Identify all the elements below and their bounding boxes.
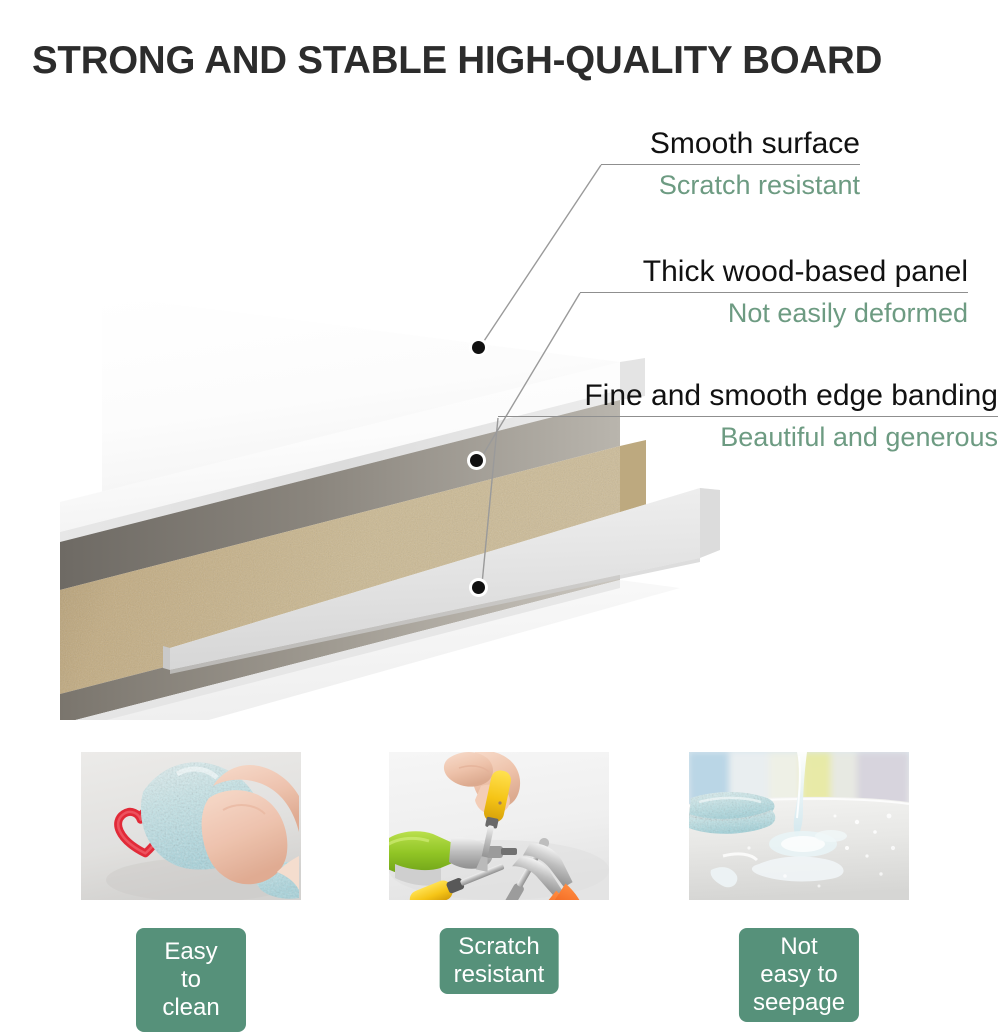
- badge-wrap: Easy to clean: [81, 928, 301, 986]
- callout-title: Fine and smooth edge banding: [498, 378, 998, 417]
- page-title: STRONG AND STABLE HIGH-QUALITY BOARD: [32, 38, 958, 84]
- callout-smooth-surface: Smooth surface Scratch resistant: [601, 126, 860, 202]
- callout-subtitle: Beautiful and generous: [498, 417, 998, 454]
- callout-title: Thick wood-based panel: [580, 254, 968, 293]
- photo-water-pouring-on-surface-beside-blue-towel: [689, 752, 909, 900]
- edge-banding-strip-left-end: [163, 646, 170, 670]
- feature-not-easy-to-seepage: Not easy to seepage: [689, 752, 909, 986]
- photo-hand-scratching-surface-with-screwdriver-and-tools: [389, 752, 609, 900]
- callout-subtitle: Scratch resistant: [601, 165, 860, 202]
- callout-subtitle: Not easily deformed: [580, 293, 968, 330]
- marker-dot-thick-wood-based-panel: [470, 454, 483, 467]
- badge-wrap: Scratch resistant: [389, 928, 609, 986]
- feature-strip: Easy to clean: [0, 752, 1000, 992]
- feature-easy-to-clean: Easy to clean: [81, 752, 301, 986]
- badge-not-easy-to-seepage: Not easy to seepage: [739, 928, 859, 1022]
- badge-wrap: Not easy to seepage: [689, 928, 909, 986]
- marker-dot-edge-banding: [472, 581, 485, 594]
- callout-thick-wood-based-panel: Thick wood-based panel Not easily deform…: [580, 254, 968, 330]
- callout-fine-and-smooth-edge-banding: Fine and smooth edge banding Beautiful a…: [498, 378, 998, 454]
- callout-title: Smooth surface: [601, 126, 860, 165]
- edge-banding-strip-right-end: [700, 488, 720, 558]
- photo-hand-wiping-red-heart-with-blue-towel: [81, 752, 301, 900]
- marker-dot-smooth-surface: [472, 341, 485, 354]
- badge-scratch-resistant: Scratch resistant: [440, 928, 559, 994]
- badge-easy-to-clean: Easy to clean: [136, 928, 246, 1032]
- feature-scratch-resistant: Scratch resistant: [389, 752, 609, 986]
